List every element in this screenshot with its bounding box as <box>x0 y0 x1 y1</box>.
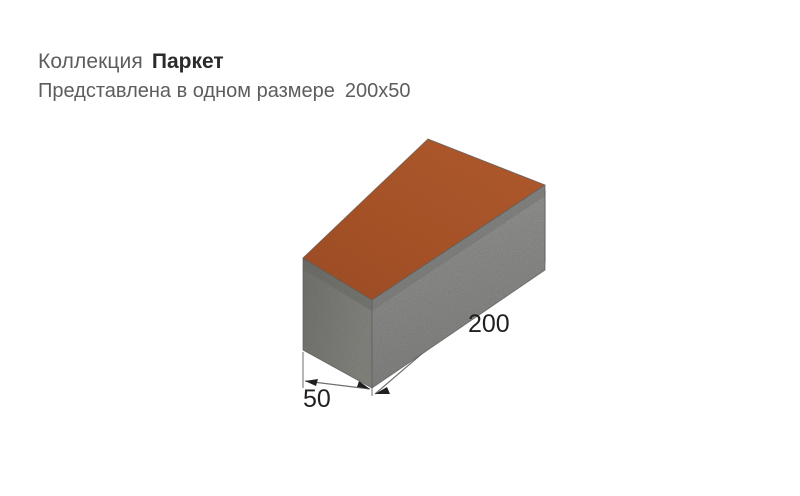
page-root: КоллекцияПаркет Представлена в одном раз… <box>0 0 800 496</box>
dimension-label-width: 50 <box>303 385 331 414</box>
paver-block <box>303 139 545 388</box>
dimension-label-length: 200 <box>468 310 510 339</box>
product-illustration: 200 50 <box>0 0 800 496</box>
paver-block-svg <box>0 0 800 496</box>
